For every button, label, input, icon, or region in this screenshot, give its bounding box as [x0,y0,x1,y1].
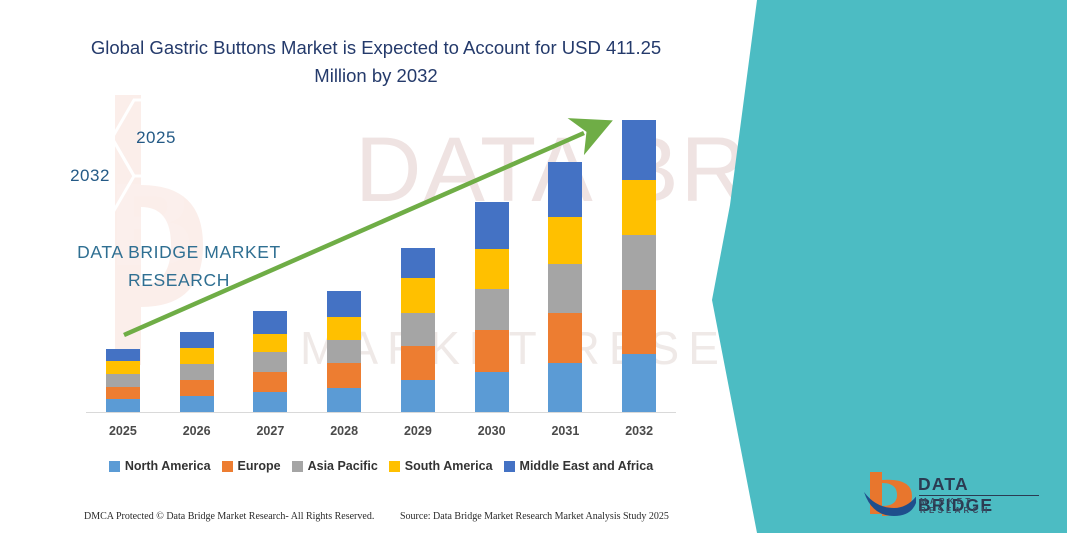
bar-2028[interactable] [327,291,361,412]
legend-swatch-icon [389,461,400,472]
legend-item[interactable]: North America [109,459,211,473]
x-axis-label-2029: 2029 [388,424,448,438]
infographic-canvas: DATA BRIDGE MARKET RESEARCH Global Gastr… [0,0,1067,533]
bar-segment [475,202,509,249]
bar-segment [548,162,582,217]
bar-2029[interactable] [401,248,435,412]
bar-2032[interactable] [622,120,656,412]
logo-divider [919,495,1039,496]
legend-label: North America [125,459,211,473]
stacked-bar-group [86,120,676,412]
x-axis-label-2026: 2026 [167,424,227,438]
bar-segment [180,380,214,396]
bar-2030[interactable] [475,202,509,412]
bar-2025[interactable] [106,349,140,412]
bar-segment [180,348,214,364]
legend-swatch-icon [222,461,233,472]
bar-segment [622,180,656,235]
logo-tagline: MARKET RESEARCH [920,497,1042,515]
footer-source: Source: Data Bridge Market Research Mark… [400,511,669,522]
x-axis-label-2030: 2030 [462,424,522,438]
legend-item[interactable]: Asia Pacific [292,459,378,473]
right-teal-panel [712,0,1067,533]
bar-segment [622,120,656,180]
bar-segment [622,290,656,353]
x-axis-label-2027: 2027 [240,424,300,438]
bar-segment [106,399,140,412]
bar-segment [327,317,361,340]
bar-segment [622,235,656,290]
x-axis-label-2031: 2031 [535,424,595,438]
legend-label: Europe [238,459,281,473]
bar-segment [622,354,656,412]
bar-segment [548,313,582,364]
x-axis-label-2025: 2025 [93,424,153,438]
bar-segment [106,349,140,362]
bar-segment [475,249,509,289]
legend-label: Asia Pacific [308,459,378,473]
bar-segment [327,363,361,387]
chart-legend: North AmericaEuropeAsia PacificSouth Ame… [86,455,676,477]
bar-segment [327,388,361,412]
bar-segment [253,352,287,372]
x-axis-label-2032: 2032 [609,424,669,438]
bar-segment [401,313,435,347]
legend-item[interactable]: Middle East and Africa [504,459,654,473]
bar-segment [253,392,287,412]
x-axis-label-2028: 2028 [314,424,374,438]
legend-item[interactable]: Europe [222,459,281,473]
bar-2031[interactable] [548,162,582,412]
footer-copyright: DMCA Protected © Data Bridge Market Rese… [84,511,374,522]
legend-swatch-icon [504,461,515,472]
x-axis-line [86,412,676,413]
bar-segment [180,364,214,380]
bar-segment [180,332,214,349]
bar-segment [253,372,287,392]
bar-segment [401,346,435,380]
legend-item[interactable]: South America [389,459,493,473]
bar-segment [106,387,140,400]
bar-segment [548,217,582,264]
bar-2026[interactable] [180,332,214,412]
logo-mark-icon [862,470,916,520]
bar-segment [253,334,287,352]
bar-segment [548,264,582,313]
bar-segment [401,278,435,313]
chart-title: Global Gastric Buttons Market is Expecte… [86,34,666,90]
legend-label: Middle East and Africa [520,459,654,473]
bar-segment [106,374,140,387]
bar-segment [475,372,509,412]
bar-segment [548,363,582,412]
bar-segment [475,289,509,329]
legend-swatch-icon [292,461,303,472]
legend-label: South America [405,459,493,473]
bar-segment [401,380,435,412]
bar-2027[interactable] [253,311,287,412]
x-axis-labels: 20252026202720282029203020312032 [86,420,676,442]
bar-segment [180,396,214,412]
bar-segment [253,311,287,333]
bar-segment [475,330,509,372]
bar-segment [327,291,361,316]
bar-segment [106,361,140,374]
bar-segment [401,248,435,278]
bar-segment [327,340,361,363]
footer: DMCA Protected © Data Bridge Market Rese… [0,505,712,527]
legend-swatch-icon [109,461,120,472]
data-bridge-logo: DATA BRIDGE MARKET RESEARCH [862,470,1042,522]
